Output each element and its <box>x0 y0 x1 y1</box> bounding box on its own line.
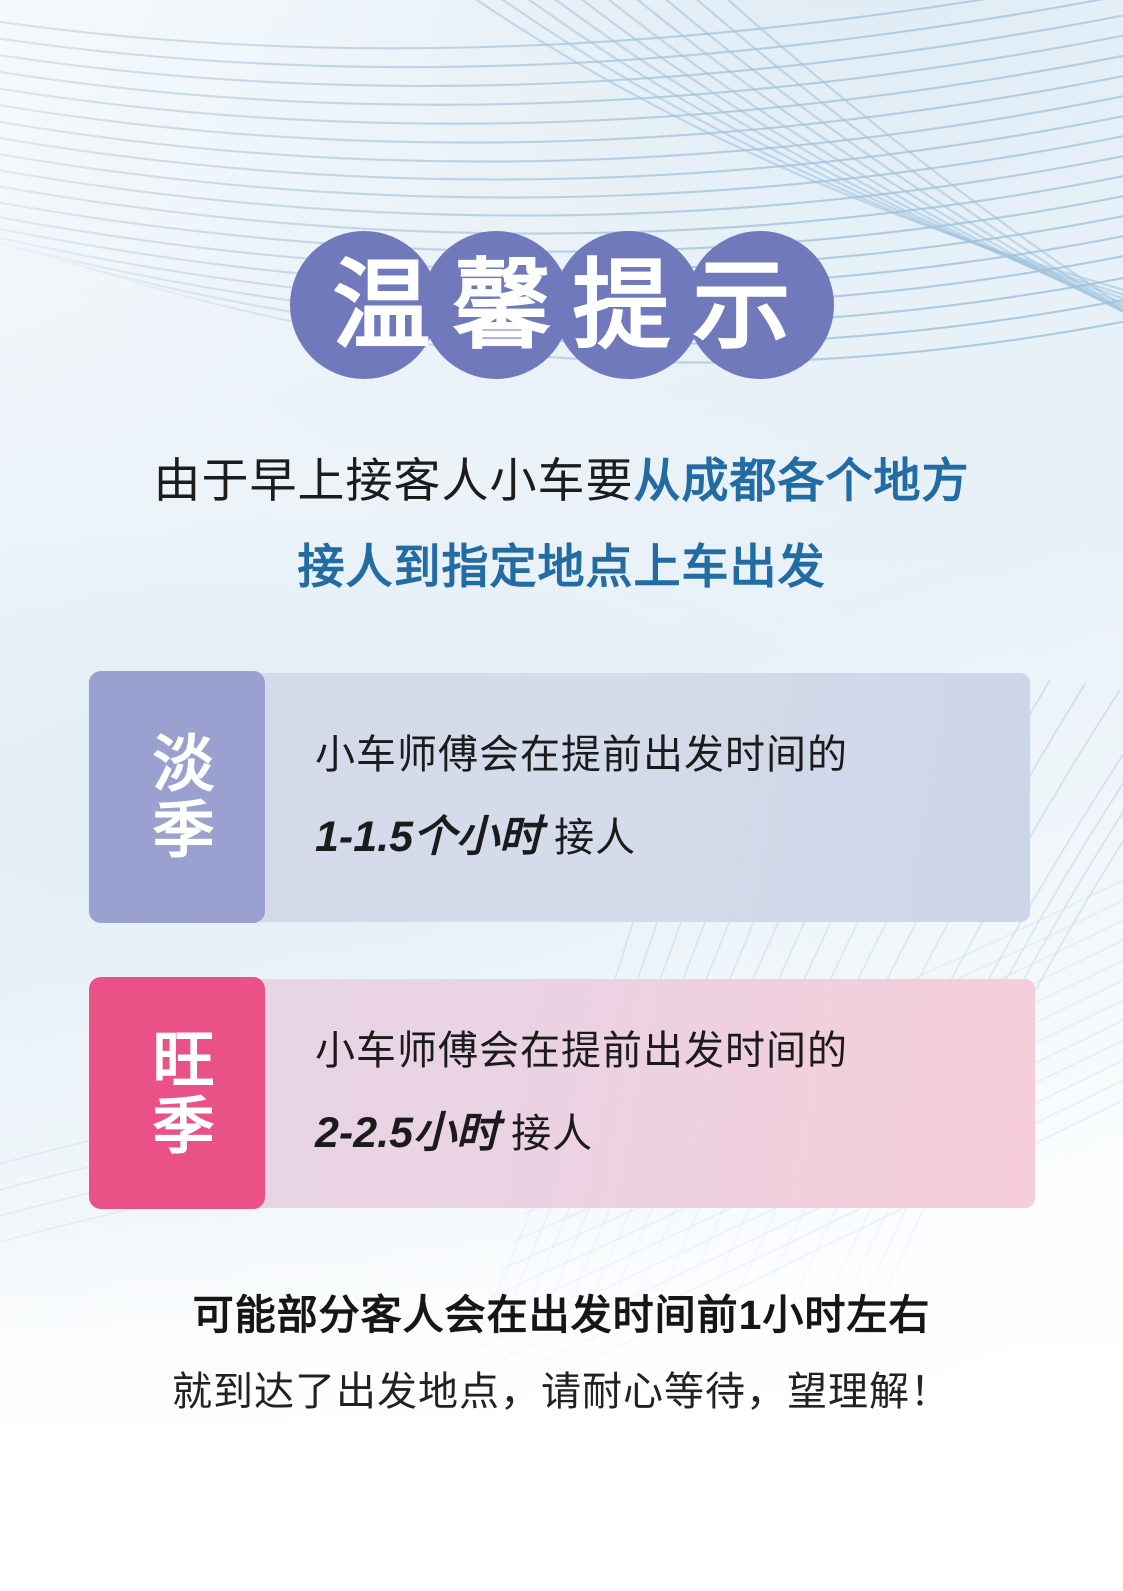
footer-line-2: 就到达了出发地点，请耐心等待，望理解！ <box>0 1363 1123 1421</box>
footer-note: 可能部分客人会在出发时间前1小时左右 就到达了出发地点，请耐心等待，望理解！ <box>0 1286 1123 1421</box>
title-circle-group: 温馨提示 <box>290 231 834 379</box>
subtitle-line-1-blue: 从成都各个地方 <box>634 454 970 507</box>
season-card-low: 淡季 小车师傅会在提前出发时间的 1-1.5个小时 接人 <box>89 673 1030 922</box>
season-card-low-line-1: 小车师傅会在提前出发时间的 <box>315 725 1030 785</box>
season-card-high-line-2: 2-2.5小时 接人 <box>315 1101 1035 1166</box>
season-card-high: 旺季 小车师傅会在提前出发时间的 2-2.5小时 接人 <box>89 979 1035 1208</box>
page-title: 温馨提示 <box>0 230 1123 380</box>
season-card-low-pickup: 接人 <box>542 816 636 860</box>
season-badge-low-label: 淡季 <box>144 731 209 863</box>
title-text: 温馨提示 <box>290 231 834 379</box>
subtitle-block: 由于早上接客人小车要从成都各个地方 接人到指定地点上车出发 <box>0 438 1123 610</box>
season-card-low-line-2: 1-1.5个小时 接人 <box>315 805 1030 870</box>
season-card-high-pickup: 接人 <box>499 1112 593 1156</box>
season-badge-high: 旺季 <box>89 977 265 1209</box>
subtitle-line-1-dark: 由于早上接客人小车要 <box>154 454 634 507</box>
poster-page: 温馨提示 由于早上接客人小车要从成都各个地方 接人到指定地点上车出发 淡季 小车… <box>0 0 1123 1591</box>
subtitle-line-2: 接人到指定地点上车出发 <box>0 524 1123 610</box>
season-badge-high-label: 旺季 <box>144 1027 209 1159</box>
season-card-high-line-1: 小车师傅会在提前出发时间的 <box>315 1021 1035 1081</box>
season-card-high-duration: 2-2.5小时 <box>315 1109 499 1157</box>
subtitle-line-1: 由于早上接客人小车要从成都各个地方 <box>0 438 1123 524</box>
season-badge-low: 淡季 <box>89 671 265 923</box>
subtitle-line-2-blue: 接人到指定地点上车出发 <box>298 540 826 593</box>
season-card-low-body: 小车师傅会在提前出发时间的 1-1.5个小时 接人 <box>265 673 1030 922</box>
footer-line-1: 可能部分客人会在出发时间前1小时左右 <box>0 1286 1123 1345</box>
season-card-high-body: 小车师傅会在提前出发时间的 2-2.5小时 接人 <box>265 979 1035 1208</box>
season-card-low-duration: 1-1.5个小时 <box>315 813 542 861</box>
